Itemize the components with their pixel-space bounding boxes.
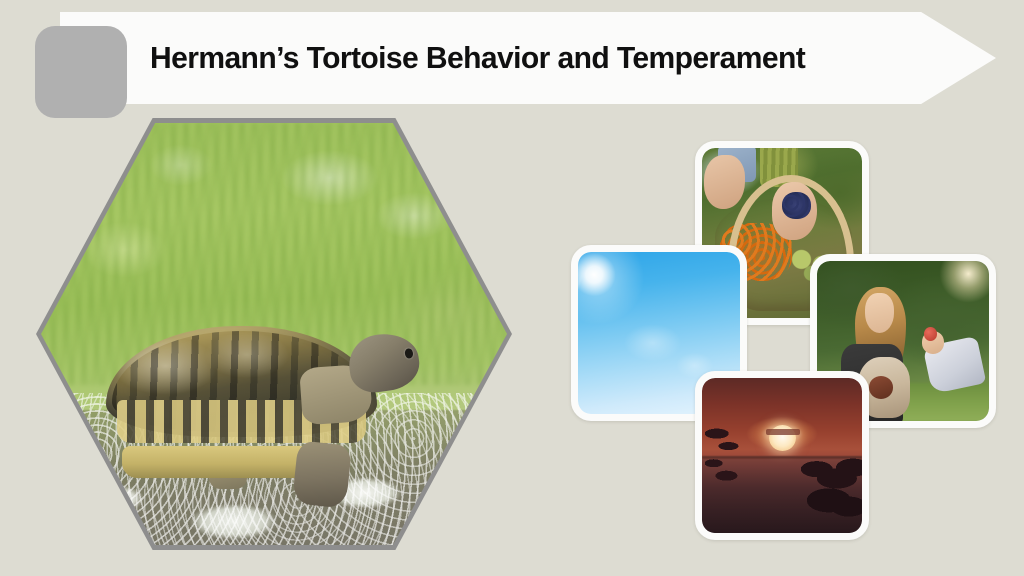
sunset-photo bbox=[702, 378, 862, 533]
gallery-tile-sunset[interactable] bbox=[695, 371, 869, 540]
hero-hexagon-photo bbox=[36, 118, 512, 550]
hero-photo-clip bbox=[41, 123, 507, 545]
blueberries bbox=[782, 192, 811, 219]
tortoise-photo bbox=[41, 123, 507, 545]
pet-shell bbox=[869, 376, 893, 398]
header-hexagon-badge bbox=[35, 26, 127, 118]
page-title: Hermann’s Tortoise Behavior and Temperam… bbox=[150, 12, 805, 104]
left-hand bbox=[704, 155, 746, 209]
sun-cloud-band bbox=[766, 429, 800, 434]
tortoise-front-leg bbox=[292, 441, 352, 509]
sunset-background bbox=[702, 378, 862, 533]
tortoise-eye bbox=[405, 348, 414, 358]
tree-silhouette-right bbox=[798, 452, 862, 530]
photo-cluster bbox=[560, 132, 1000, 542]
slide-canvas: Hermann’s Tortoise Behavior and Temperam… bbox=[0, 0, 1024, 576]
tree-silhouette-left bbox=[705, 418, 743, 496]
tortoise-figure bbox=[106, 326, 376, 469]
header-banner: Hermann’s Tortoise Behavior and Temperam… bbox=[60, 12, 996, 104]
